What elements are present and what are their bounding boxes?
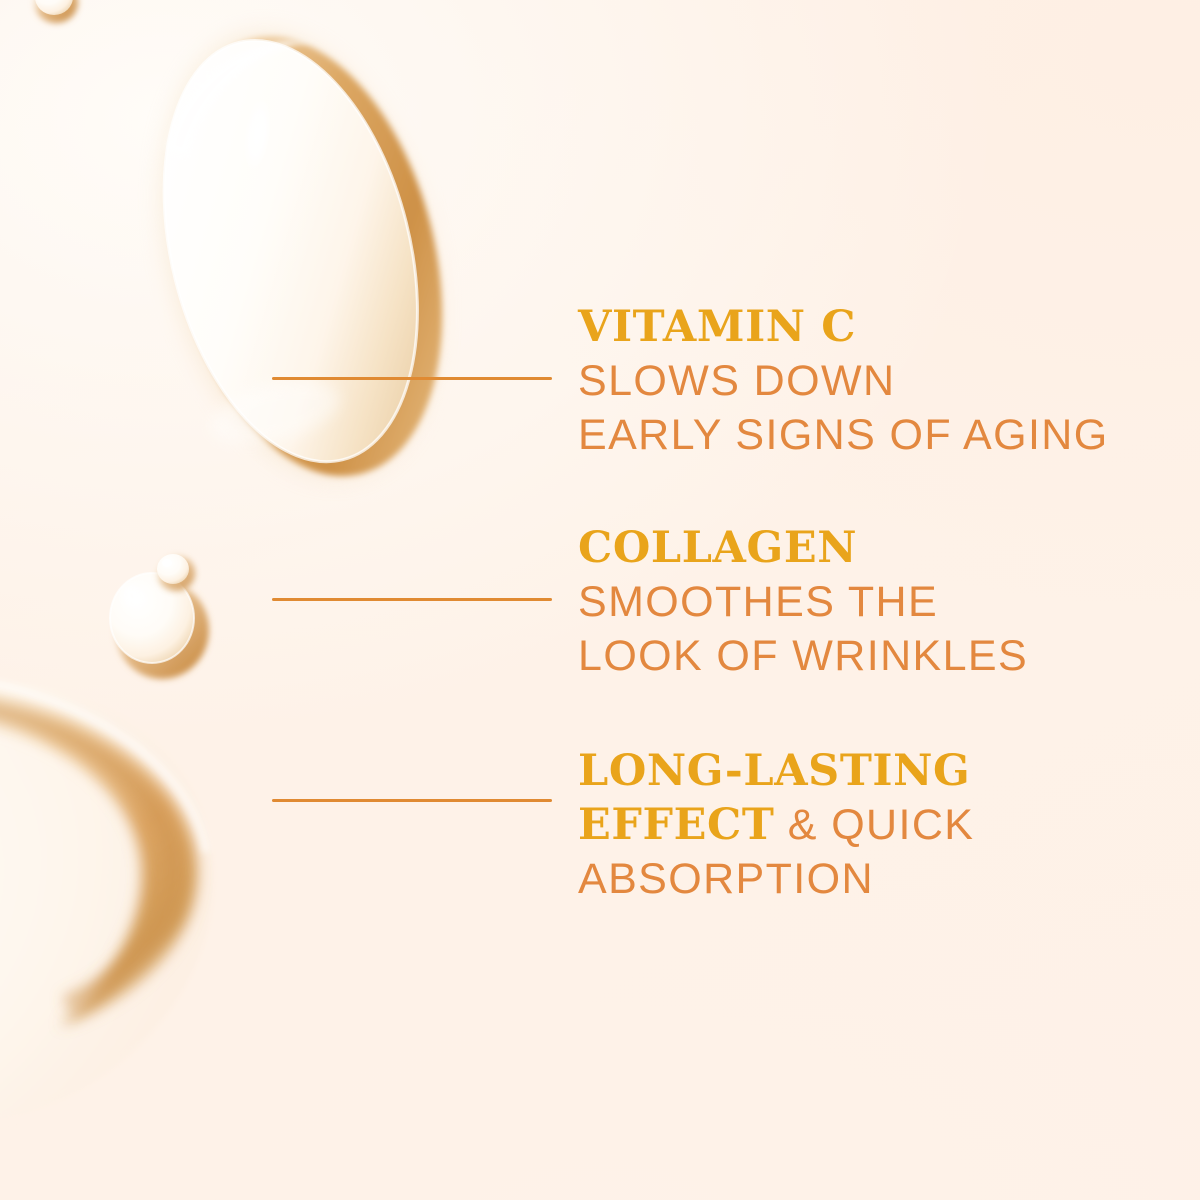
feature-long-lasting-effect: LONG-LASTING EFFECT & QUICK ABSORPTION [578,744,974,906]
feature-headline-part-2: EFFECT & QUICK [578,798,974,852]
feature-vitamin-c: VITAMIN C SLOWS DOWN EARLY SIGNS OF AGIN… [578,300,1109,462]
feature-description-line: EARLY SIGNS OF AGING [578,408,1109,462]
feature-headline: COLLAGEN [578,521,1028,575]
feature-description-line: LOOK OF WRINKLES [578,629,1028,683]
feature-description-line: SLOWS DOWN [578,354,1109,408]
infographic-poster: VITAMIN C SLOWS DOWN EARLY SIGNS OF AGIN… [0,0,1200,1200]
feature-inline-light-text: & QUICK [774,801,974,849]
feature-headline-strong: EFFECT [578,800,774,850]
feature-description-line: SMOOTHES THE [578,575,1028,629]
connector-line-long-lasting-effect [272,799,552,802]
connector-line-vitamin-c [272,377,552,380]
feature-headline-part-1: LONG-LASTING [578,744,974,798]
feature-collagen: COLLAGEN SMOOTHES THE LOOK OF WRINKLES [578,521,1028,683]
connector-line-collagen [272,598,552,601]
feature-list: VITAMIN C SLOWS DOWN EARLY SIGNS OF AGIN… [0,0,1200,1200]
feature-description-line: ABSORPTION [578,852,974,906]
feature-headline-strong: LONG-LASTING [578,746,970,796]
feature-headline: VITAMIN C [578,300,1109,354]
